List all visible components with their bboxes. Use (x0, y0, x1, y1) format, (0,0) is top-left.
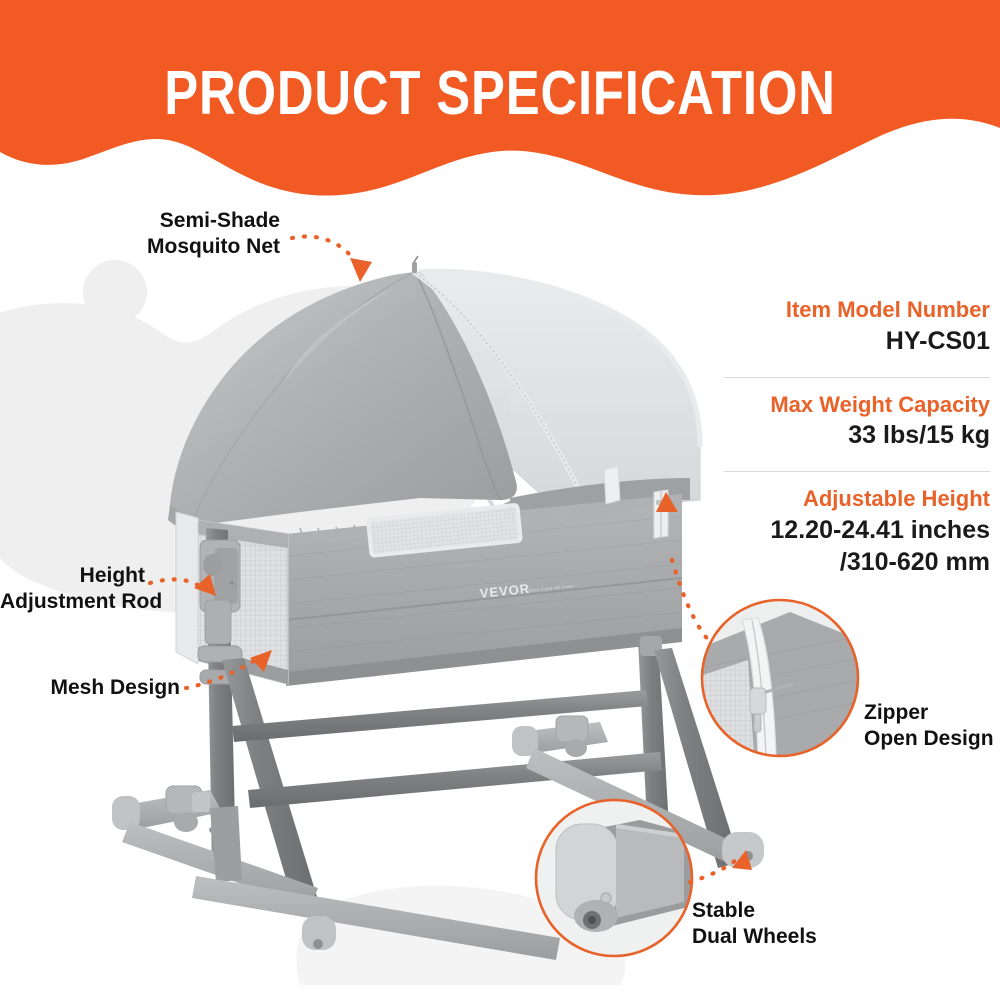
callout-height-adjustment-rod: Height Adjustment Rod (0, 563, 145, 616)
callout-line-2: Adjustment Rod (0, 589, 145, 615)
zipper-detail-inset (700, 598, 860, 758)
spec-label: Item Model Number (700, 296, 990, 325)
callout-line-1: Semi-Shade (20, 208, 280, 234)
spec-row-max-weight-capacity: Max Weight Capacity 33 lbs/15 kg (700, 391, 990, 458)
spec-value: 12.20-24.41 inches /310-620 mm (700, 514, 990, 578)
callout-semi-shade-mosquito-net: Semi-Shade Mosquito Net (20, 208, 280, 261)
spec-value: 33 lbs/15 kg (700, 419, 990, 451)
callout-line-2: Dual Wheels (692, 924, 862, 950)
spec-divider (724, 471, 990, 472)
callout-line-1: Mesh Design (0, 675, 180, 701)
callout-mesh-design: Mesh Design (0, 675, 180, 701)
product-specification-page: PRODUCT SPECIFICATION (0, 0, 1000, 1000)
callout-line-1: Zipper (864, 700, 1000, 726)
callout-line-2: Open Design (864, 726, 1000, 752)
callout-stable-dual-wheels: Stable Dual Wheels (692, 898, 862, 951)
spec-label: Adjustable Height (700, 485, 990, 514)
spec-value: HY-CS01 (700, 325, 990, 357)
callout-zipper-open-design: Zipper Open Design (864, 700, 1000, 753)
callout-line-1: Stable (692, 898, 862, 924)
spec-row-item-model-number: Item Model Number HY-CS01 (700, 296, 990, 363)
spec-label: Max Weight Capacity (700, 391, 990, 420)
callout-line-2: Mosquito Net (20, 234, 280, 260)
spec-row-adjustable-height: Adjustable Height 12.20-24.41 inches /31… (700, 485, 990, 584)
wheel-detail-inset (534, 798, 694, 958)
spec-divider (724, 377, 990, 378)
specification-panel: Item Model Number HY-CS01 Max Weight Cap… (700, 296, 990, 584)
callout-line-1: Height (0, 563, 145, 589)
